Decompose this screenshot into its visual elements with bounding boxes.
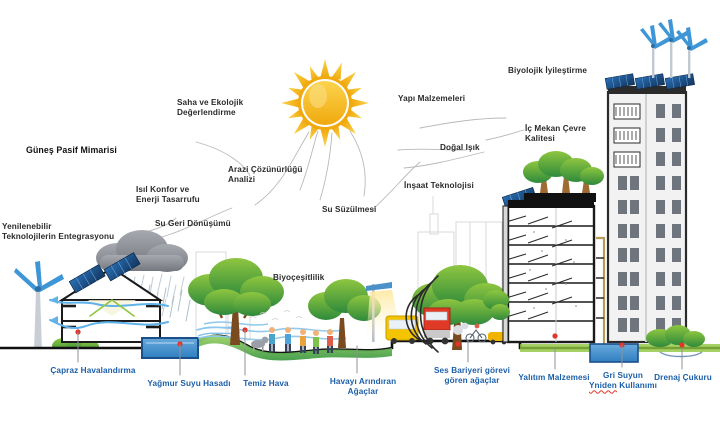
label-havayi-arindiran-agaclar: Havayı Arındıran Ağaçlar (315, 377, 411, 398)
label-yapi-malzemeleri: Yapı Malzemeleri (398, 94, 465, 104)
label-isil-konfor-ve-enerji-tasarrufu: Isıl Konfor ve Enerji Tasarrufu (136, 185, 200, 206)
label-insaat-teknolojisi: İnşaat Teknolojisi (404, 181, 474, 191)
tower-solar-panels (605, 74, 694, 90)
label-arazi-cozunurlugu-analizi: Arazi Çözünürlüğü Analizi (228, 165, 302, 186)
marker-dot (679, 342, 684, 347)
label-temiz-hava: Temiz Hava (232, 379, 300, 389)
tower-wind-turbines (640, 19, 708, 78)
label-ic-mekan-cevre-kalitesi: İç Mekan Çevre Kalitesi (525, 124, 586, 145)
green-facade-building (502, 187, 594, 342)
wind-turbine-left (14, 261, 64, 352)
sun-icon (281, 59, 369, 147)
cyclist-icon (466, 324, 486, 342)
label-saha-ve-ekolojik-degerlendirme: Saha ve Ekolojik Değerlendirme (177, 98, 243, 119)
park-tree-large (188, 258, 284, 345)
label-drenaj-cukuru: Drenaj Çukuru (645, 373, 720, 383)
label-line-1: Gri Suyun (603, 371, 643, 380)
tower-louvered-windows (614, 104, 640, 167)
label-biyolojik-iyilestirme: Biyolojik İyileştirme (508, 66, 587, 76)
label-gunes-pasif-mimarisi: Güneş Pasif Mimarisi (26, 145, 117, 156)
label-yenilenebilir-teknolojilerin-entegrasyonu: Yenilenebilir Teknolojilerin Entegrasyon… (2, 222, 114, 243)
label-dogal-isik: Doğal Işık (440, 143, 480, 153)
infographic-canvas: Güneş Pasif MimarisiYenilenebilir Teknol… (0, 0, 720, 427)
label-su-suzulmesi: Su Süzülmesi (322, 205, 376, 215)
marker-dot (455, 341, 460, 346)
label-su-geri-donusumu: Su Geri Dönüşümü (155, 219, 231, 229)
label-biyocesitlilik: Biyoçeşitlilik (273, 273, 324, 283)
marker-dot (552, 333, 557, 338)
residential-tower (605, 19, 708, 342)
label-capraz-havalandirma: Çapraz Havalandırma (38, 366, 148, 376)
label-misspelled-word: Yniden (589, 381, 617, 390)
truck-icon (424, 308, 450, 344)
label-yagmur-suyu-hasadi: Yağmur Suyu Hasadı (134, 379, 244, 389)
bus-icon (386, 316, 418, 344)
green-roof-trees (523, 151, 604, 202)
insulation-marker (503, 206, 508, 342)
